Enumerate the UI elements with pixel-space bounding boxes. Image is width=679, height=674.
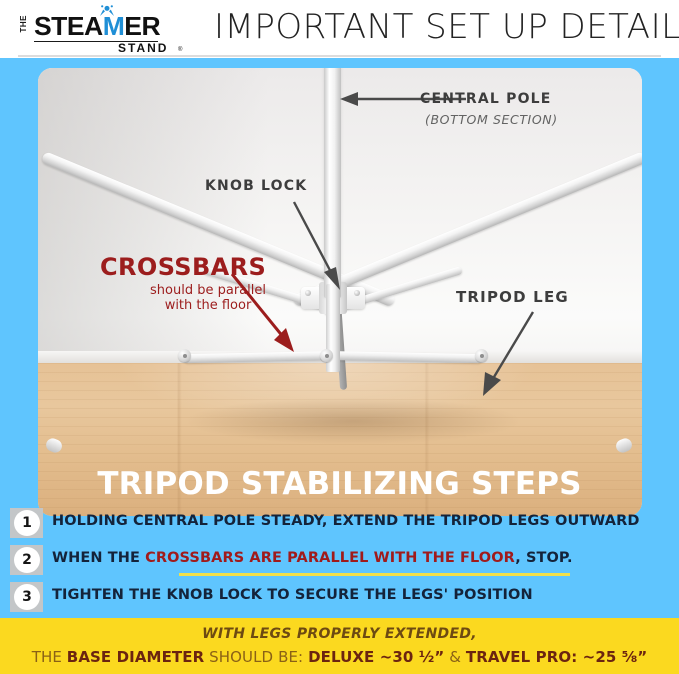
step-2-yellow-underline [179, 573, 570, 576]
callout-central-pole-sub: (BOTTOM SECTION) [425, 112, 558, 127]
tripod-leg-arrow-icon [473, 308, 543, 398]
steps-section-title: TRIPOD STABILIZING STEPS [0, 466, 679, 502]
footer-deluxe-value: DELUXE ~30 ½” [308, 648, 444, 666]
footer-text-the: THE [32, 648, 67, 666]
footer-should-be: SHOULD BE: [204, 648, 308, 666]
logo-stand-text: STAND [118, 41, 168, 55]
footer-line-2: THE BASE DIAMETER SHOULD BE: DELUXE ~30 … [0, 648, 679, 666]
step-2-text: WHEN THE CROSSBARS ARE PARALLEL WITH THE… [52, 550, 573, 566]
footer-banner: WITH LEGS PROPERLY EXTENDED, THE BASE DI… [0, 618, 679, 674]
step-3-text: TIGHTEN THE KNOB LOCK TO SECURE THE LEGS… [52, 587, 533, 603]
joint-left-outer-dot [183, 354, 187, 358]
main-blue-panel: CENTRAL POLE (BOTTOM SECTION) KNOB LOCK … [0, 58, 679, 618]
step-3-number: 3 [14, 584, 40, 610]
page-title: IMPORTANT SET UP DETAIL [214, 7, 679, 47]
footer-ampersand: & [444, 648, 466, 666]
product-photo: CENTRAL POLE (BOTTOM SECTION) KNOB LOCK … [38, 68, 642, 516]
logo-steamer-post: ER [124, 11, 160, 41]
step-2-text-post: , STOP. [515, 550, 572, 566]
steam-figure-icon [98, 5, 116, 17]
footer-line-1: WITH LEGS PROPERLY EXTENDED, [0, 626, 679, 642]
step-2-text-pre: WHEN THE [52, 550, 145, 566]
step-1-text: HOLDING CENTRAL POLE STEADY, EXTEND THE … [52, 513, 639, 529]
logo-registered-mark: ® [178, 47, 182, 53]
footer-travel-pro-value: TRAVEL PRO: ~25 ⅝” [466, 648, 647, 666]
callout-central-pole: CENTRAL POLE [420, 91, 552, 107]
step-2-number: 2 [14, 547, 40, 573]
footer-base-diameter: BASE DIAMETER [67, 648, 204, 666]
callout-tripod-leg: TRIPOD LEG [456, 288, 569, 306]
step-2-text-highlight: CROSSBARS ARE PARALLEL WITH THE FLOOR [145, 550, 515, 566]
callout-knob-lock: KNOB LOCK [205, 178, 307, 194]
crossbars-arrow-icon [228, 270, 308, 362]
page-header: THE STEAMER STAND ® IMPORTANT SET UP DET… [0, 0, 679, 58]
brand-logo: THE STEAMER STAND ® [18, 5, 190, 53]
header-divider [18, 55, 661, 57]
logo-steamer-pre: STEA [34, 11, 103, 41]
step-1-number: 1 [14, 510, 40, 536]
hub-screw-right [354, 290, 360, 296]
tripod-floor-shadow [188, 398, 518, 444]
logo-the-text: THE [20, 15, 28, 33]
joint-center-dot [325, 354, 329, 358]
